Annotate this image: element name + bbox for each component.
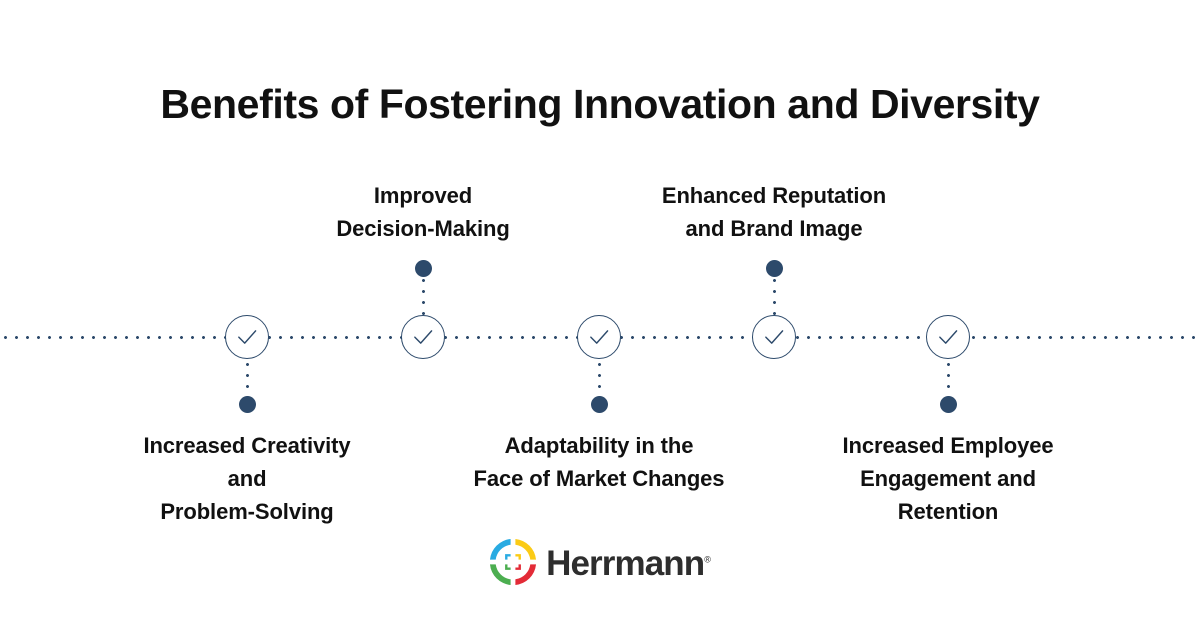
milestone-dot-5 [940,396,957,413]
check-icon [226,316,268,358]
check-icon [402,316,444,358]
check-icon [927,316,969,358]
milestone-dot-3 [591,396,608,413]
milestone-label-line: Enhanced Reputation [549,179,999,212]
logo-wordmark-text: Herrmann [546,544,704,583]
check-icon [753,316,795,358]
infographic-canvas: Benefits of Fostering Innovation and Div… [0,0,1200,627]
milestone-label-line: Engagement and [723,462,1173,495]
milestone-node-1[interactable] [225,315,269,359]
logo-quadrant-ring [516,539,537,560]
milestone-label-line: Retention [723,495,1173,528]
milestone-dot-2 [415,260,432,277]
milestone-connector-4 [773,275,776,316]
milestone-connector-1 [246,359,249,398]
brand-logo: Herrmann® [0,538,1200,586]
milestone-node-3[interactable] [577,315,621,359]
logo-trademark-symbol: ® [704,554,711,564]
milestone-label-5: Increased EmployeeEngagement andRetentio… [723,429,1173,529]
logo-quadrant-ring [516,564,537,585]
milestone-connector-3 [598,359,601,398]
logo-quadrant-ring [490,564,511,585]
herrmann-quadrant-logo-icon [489,538,537,586]
milestone-node-2[interactable] [401,315,445,359]
milestone-node-4[interactable] [752,315,796,359]
milestone-dot-4 [766,260,783,277]
logo-quadrant-bracket [516,554,522,560]
logo-quadrant-bracket [505,554,511,560]
milestone-label-line: Increased Employee [723,429,1173,462]
milestone-label-4: Enhanced Reputationand Brand Image [549,179,999,246]
milestone-label-line: Problem-Solving [22,495,472,528]
milestone-dot-1 [239,396,256,413]
logo-quadrant-bracket [516,564,522,570]
milestone-connector-5 [947,359,950,398]
check-icon [578,316,620,358]
milestone-connector-2 [422,275,425,316]
logo-quadrant-bracket [505,564,511,570]
milestone-label-line: and Brand Image [549,212,999,245]
milestone-node-5[interactable] [926,315,970,359]
logo-wordmark: Herrmann® [546,546,711,581]
page-title: Benefits of Fostering Innovation and Div… [0,82,1200,127]
logo-quadrant-ring [490,539,511,560]
